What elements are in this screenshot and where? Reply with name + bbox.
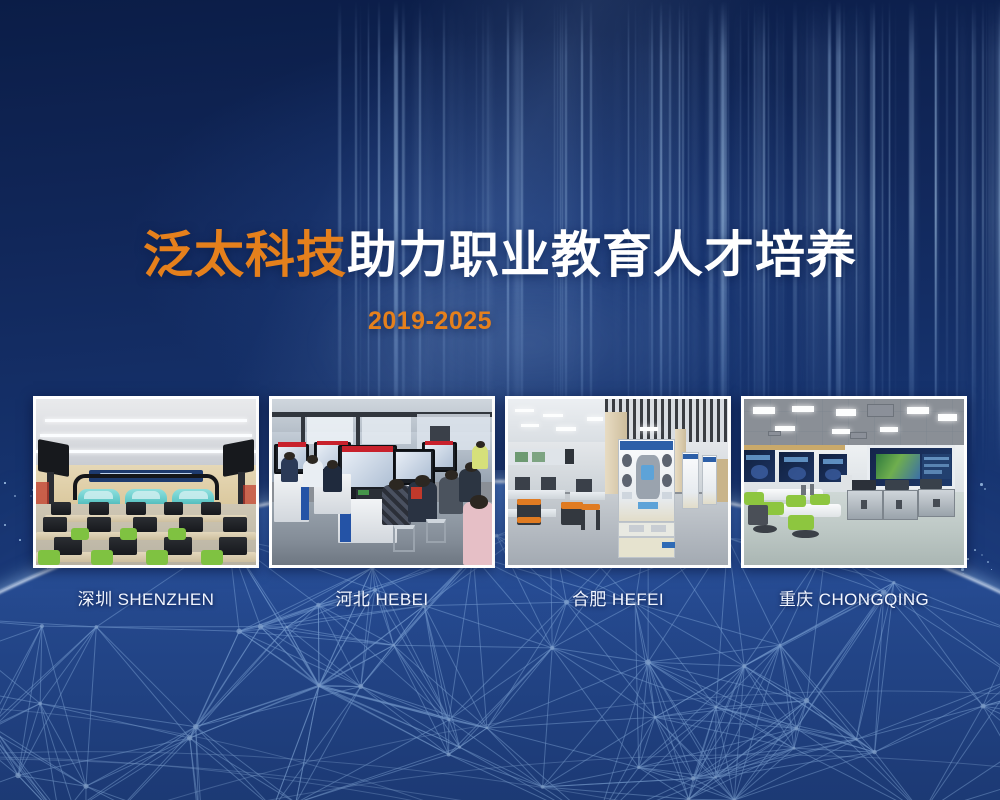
photo-hebei: [272, 399, 492, 565]
gallery-card-hefei[interactable]: [505, 396, 731, 568]
photo-hefei: [508, 399, 728, 565]
caption-chongqing: 重庆 CHONGQING: [741, 585, 967, 610]
caption-shenzhen: 深圳 SHENZHEN: [33, 585, 259, 610]
year-range: 2019-2025: [0, 307, 1000, 336]
photo-chongqing: [744, 399, 964, 565]
caption-hefei: 合肥 HEFEI: [505, 585, 731, 610]
gallery-card-chongqing[interactable]: [741, 396, 967, 568]
photo-gallery: [33, 396, 967, 568]
poster-canvas: 泛太科技助力职业教育人才培养 2019-2025: [0, 0, 1000, 800]
gallery-card-hebei[interactable]: [269, 396, 495, 568]
caption-hebei: 河北 HEBEI: [269, 585, 495, 610]
title-block: 泛太科技助力职业教育人才培养: [0, 228, 1000, 282]
main-title: 泛太科技助力职业教育人才培养: [0, 228, 1000, 282]
brand-name: 泛太科技: [143, 227, 347, 283]
title-tagline: 助力职业教育人才培养: [347, 227, 857, 283]
gallery-card-shenzhen[interactable]: [33, 396, 259, 568]
photo-shenzhen: [36, 399, 256, 565]
gallery-captions: 深圳 SHENZHEN 河北 HEBEI 合肥 HEFEI 重庆 CHONGQI…: [33, 585, 967, 611]
